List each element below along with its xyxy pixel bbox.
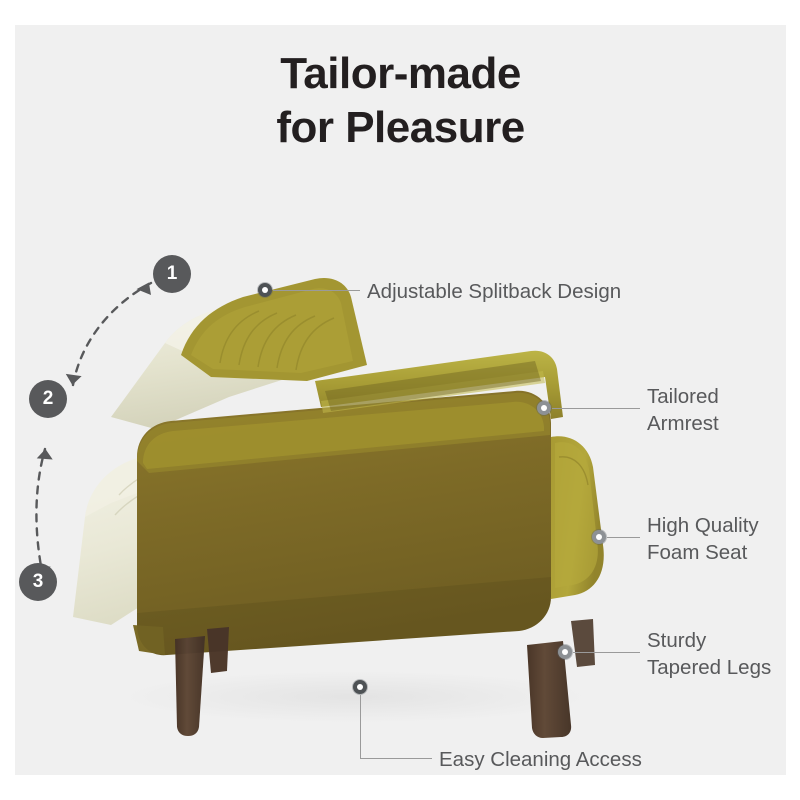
callout-dot-armrest: [537, 401, 551, 415]
callout-dot-legs: [558, 645, 572, 659]
callout-dot-cleaning: [353, 680, 367, 694]
content-panel: Tailor-made for Pleasure: [15, 25, 786, 775]
callout-label-legs: Sturdy Tapered Legs: [647, 627, 771, 682]
callout-leader-legs: [573, 652, 640, 653]
callout-dot-foam-seat: [592, 530, 606, 544]
callout-label-splitback: Adjustable Splitback Design: [367, 278, 621, 305]
arrowhead-up: [37, 448, 54, 459]
step-badge-2: 2: [29, 380, 67, 418]
arrowhead-down: [64, 374, 81, 386]
step-badge-2-number: 2: [43, 388, 54, 410]
callout-leader-armrest: [552, 408, 640, 409]
callout-leader-cleaning-vertical: [360, 695, 361, 758]
step-badge-3: 3: [19, 563, 57, 601]
callout-label-foam-seat: High Quality Foam Seat: [647, 512, 759, 567]
arrow-2-path: [36, 449, 45, 577]
arrow-1-path: [73, 283, 151, 385]
step-badge-1-number: 1: [167, 263, 178, 285]
callout-label-armrest: Tailored Armrest: [647, 383, 719, 438]
callout-leader-splitback: [273, 290, 360, 291]
callout-label-cleaning: Easy Cleaning Access: [439, 746, 642, 773]
step-badge-1: 1: [153, 255, 191, 293]
infographic-canvas: Tailor-made for Pleasure: [0, 0, 800, 800]
callout-leader-foam-seat: [607, 537, 640, 538]
step-badge-3-number: 3: [33, 571, 44, 593]
callout-leader-cleaning-horizontal: [360, 758, 432, 759]
callout-dot-splitback: [258, 283, 272, 297]
